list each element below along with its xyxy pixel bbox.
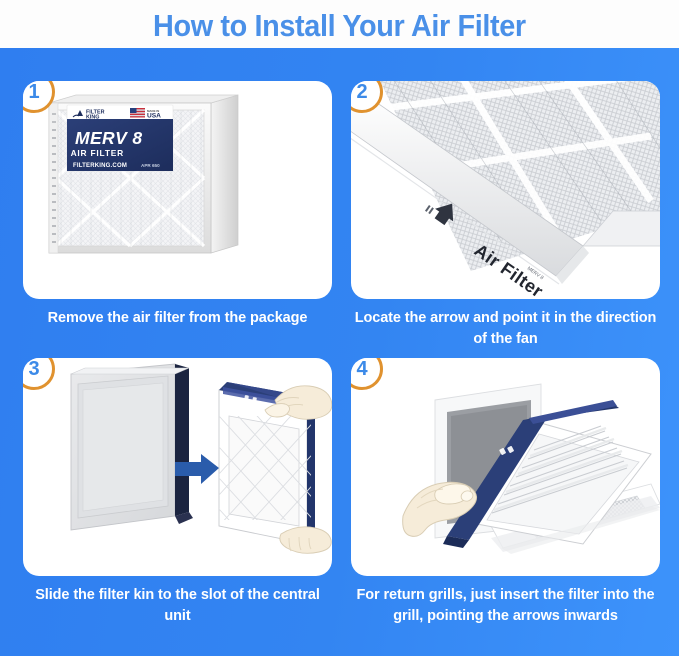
svg-text:APR 650: APR 650 [141,163,160,168]
header-bar: How to Install Your Air Filter [0,0,679,48]
step-illustration-1: FILTER KING MADE IN USA [23,81,332,299]
step-caption-2: Locate the arrow and point it in the dir… [351,308,660,350]
svg-text:USA: USA [147,113,161,120]
step-panel-2: Air Filter MERV 8 2 Locate the arrow and… [351,81,660,350]
step-card-2: Air Filter MERV 8 2 [351,81,660,299]
svg-text:FILTERKING.COM: FILTERKING.COM [73,163,127,169]
step-caption-4: For return grills, just insert the filte… [351,585,660,627]
step-panel-4: 4 For return grills, just insert the fil… [351,358,660,627]
svg-text:MERV 8: MERV 8 [75,128,143,148]
step-illustration-3 [23,358,332,576]
step-illustration-2: Air Filter MERV 8 [351,81,660,299]
infographic-root: How to Install Your Air Filter [0,0,679,656]
step-card-4: 4 [351,358,660,576]
steps-grid: FILTER KING MADE IN USA [0,48,679,656]
step-panel-1: FILTER KING MADE IN USA [23,81,332,329]
step-card-1: FILTER KING MADE IN USA [23,81,332,299]
svg-text:KING: KING [86,115,99,121]
step-caption-3: Slide the filter kin to the slot of the … [23,585,332,627]
step-panel-3: 3 Slide the filter kin to the slot of th… [23,358,332,627]
step-illustration-4 [351,358,660,576]
page-title: How to Install Your Air Filter [153,10,526,41]
svg-text:AIR FILTER: AIR FILTER [71,148,124,158]
step-card-3: 3 [23,358,332,576]
step-caption-1: Remove the air filter from the package [23,308,332,329]
